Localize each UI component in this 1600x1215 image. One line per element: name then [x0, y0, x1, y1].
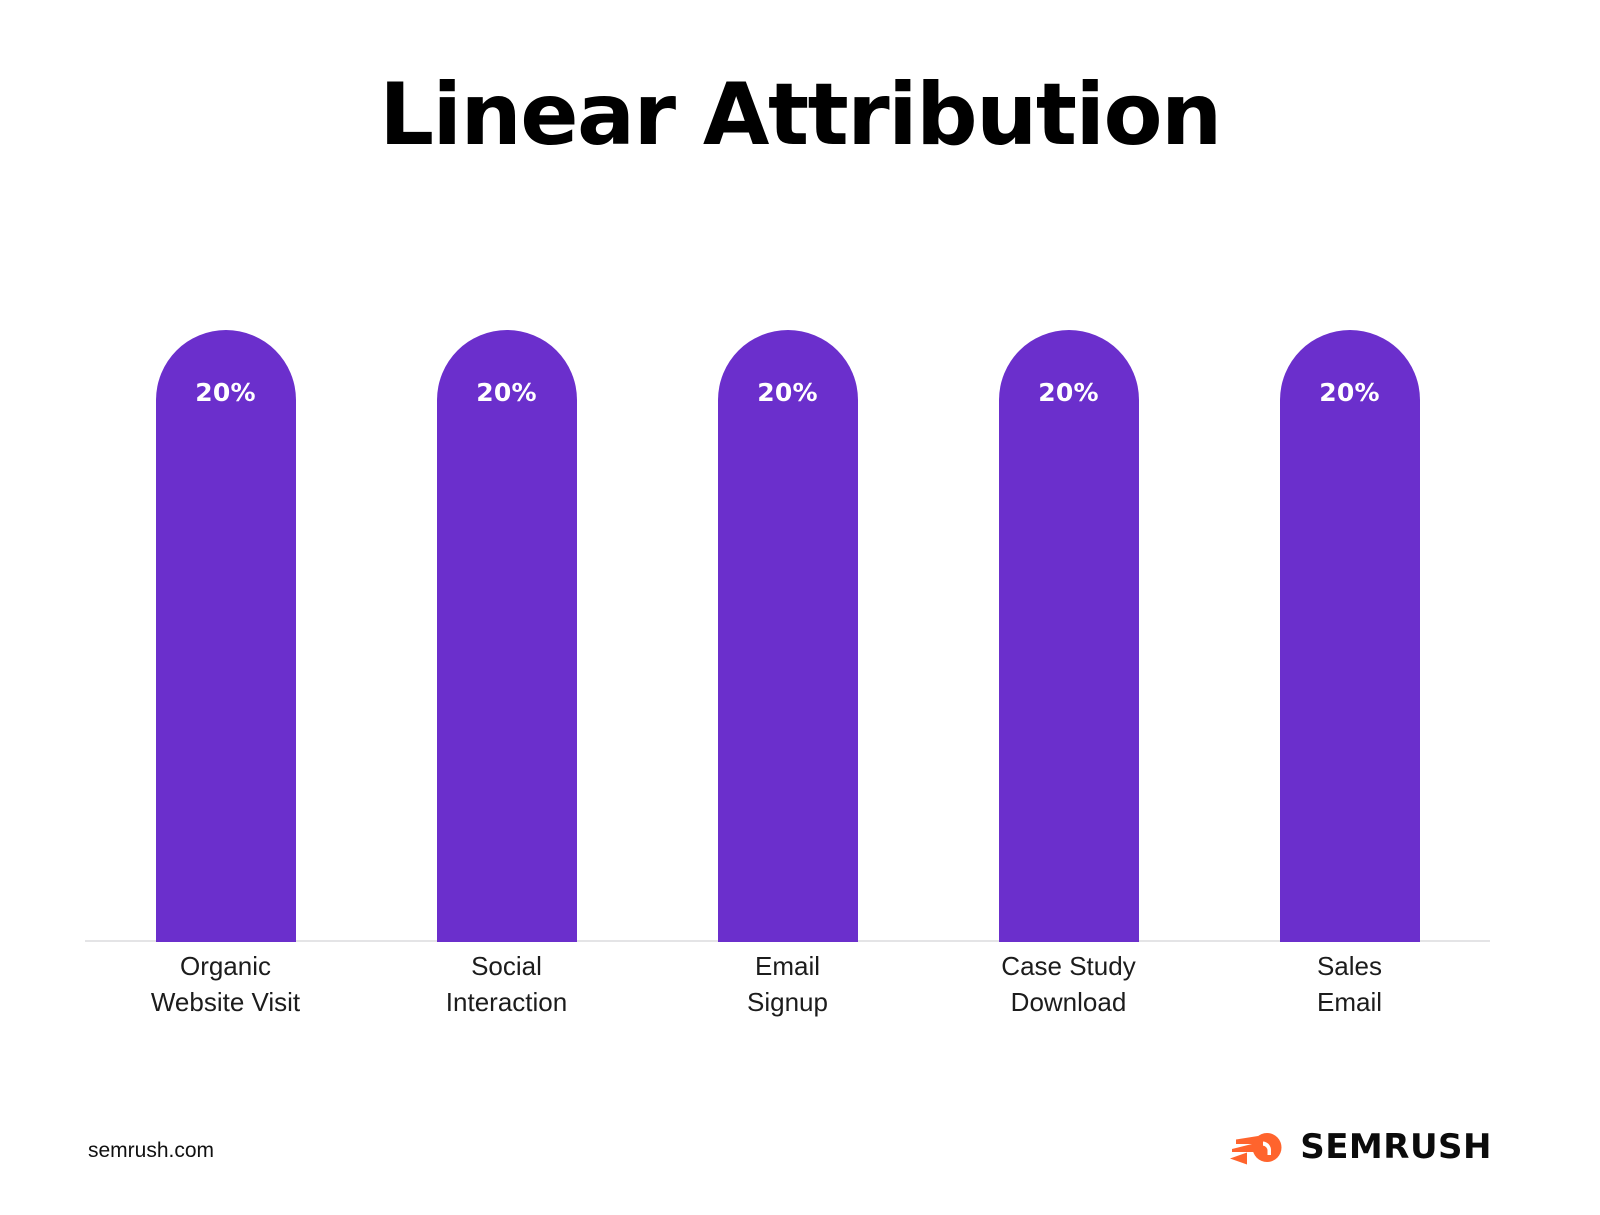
x-axis-label-line: Signup	[647, 984, 928, 1020]
bar-social-interaction[interactable]: 20%	[437, 330, 577, 942]
bar-value-label: 20%	[999, 380, 1139, 405]
x-axis-label-sales-email: Sales Email	[1209, 948, 1490, 1020]
x-axis-label-line: Interaction	[366, 984, 647, 1020]
x-axis-label-line: Email	[647, 948, 928, 984]
x-axis-label-social-interaction: Social Interaction	[366, 948, 647, 1020]
bar-slot: 20%	[85, 330, 366, 942]
chart-canvas: Linear Attribution 20% 20% 20% 20% 20%	[0, 0, 1600, 1215]
x-axis-labels: Organic Website Visit Social Interaction…	[85, 948, 1490, 1020]
x-axis-label-line: Sales	[1209, 948, 1490, 984]
x-axis-label-line: Website Visit	[85, 984, 366, 1020]
bar-value-label: 20%	[1280, 380, 1420, 405]
source-url: semrush.com	[88, 1138, 214, 1164]
page-title: Linear Attribution	[0, 72, 1600, 158]
bar-sales-email[interactable]: 20%	[1280, 330, 1420, 942]
x-axis-label-organic-website-visit: Organic Website Visit	[85, 948, 366, 1020]
bar-slot: 20%	[366, 330, 647, 942]
x-axis-label-line: Organic	[85, 948, 366, 984]
x-axis-label-line: Download	[928, 984, 1209, 1020]
bar-email-signup[interactable]: 20%	[718, 330, 858, 942]
x-axis-label-line: Email	[1209, 984, 1490, 1020]
bar-organic-website-visit[interactable]: 20%	[156, 330, 296, 942]
bar-case-study-download[interactable]: 20%	[999, 330, 1139, 942]
semrush-comet-icon	[1230, 1128, 1286, 1166]
x-axis-label-email-signup: Email Signup	[647, 948, 928, 1020]
bar-value-label: 20%	[156, 380, 296, 405]
x-axis-label-line: Social	[366, 948, 647, 984]
bar-value-label: 20%	[718, 380, 858, 405]
bar-series: 20% 20% 20% 20% 20%	[85, 330, 1490, 942]
bar-slot: 20%	[1209, 330, 1490, 942]
bar-slot: 20%	[647, 330, 928, 942]
bar-slot: 20%	[928, 330, 1209, 942]
semrush-logo: SEMRUSH	[1230, 1128, 1492, 1166]
bar-value-label: 20%	[437, 380, 577, 405]
semrush-wordmark: SEMRUSH	[1300, 1130, 1492, 1164]
x-axis-label-line: Case Study	[928, 948, 1209, 984]
x-axis-label-case-study-download: Case Study Download	[928, 948, 1209, 1020]
